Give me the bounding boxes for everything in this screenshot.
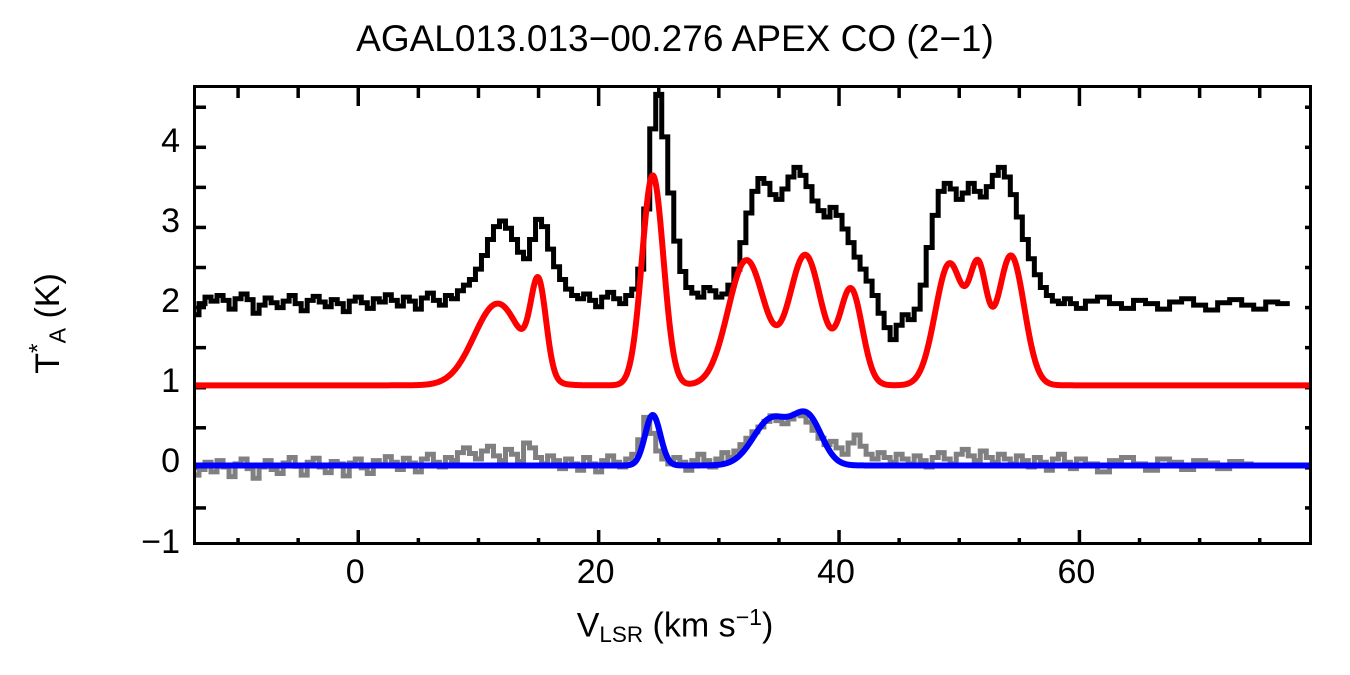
x-axis-label-unit: (km s <box>643 607 736 645</box>
y-tick-label: 2 <box>120 284 180 318</box>
x-tick-label: 60 <box>1036 552 1116 592</box>
figure-canvas: AGAL013.013−00.276 APEX CO (2−1) T*A (K)… <box>0 0 1350 675</box>
plot-area <box>193 85 1312 545</box>
x-tick-label-group: 0204060 <box>193 552 1312 602</box>
y-tick-label: 0 <box>120 444 180 478</box>
y-tick-label: 1 <box>120 364 180 398</box>
x-tick-label: 20 <box>556 552 636 592</box>
y-tick-label-group: −101234 <box>110 85 180 545</box>
x-axis-label-exp: −1 <box>736 604 762 630</box>
y-tick-label: −1 <box>120 525 180 559</box>
x-axis-label-close: ) <box>762 607 773 645</box>
y-axis-label-sub: A <box>44 328 70 343</box>
y-tick-label: 3 <box>120 204 180 238</box>
x-axis-label: VLSR (km s−1) <box>0 604 1350 648</box>
x-axis-label-sub: LSR <box>599 622 643 647</box>
x-axis-label-text: V <box>577 607 600 645</box>
y-axis-label-unit: (K) <box>29 273 67 328</box>
residual-spectrum-trace <box>196 414 1254 478</box>
x-tick-label: 0 <box>315 552 395 592</box>
plot-title: AGAL013.013−00.276 APEX CO (2−1) <box>0 18 1350 60</box>
axis-ticks <box>196 88 1312 545</box>
y-axis-label-star: * <box>25 343 52 353</box>
y-axis-label: T*A (K) <box>25 213 72 433</box>
spectrum-svg <box>196 88 1312 545</box>
spectrum-trace <box>196 94 1290 339</box>
y-axis-label-text: T <box>29 353 67 374</box>
x-tick-label: 40 <box>796 552 876 592</box>
y-tick-label: 4 <box>120 124 180 158</box>
